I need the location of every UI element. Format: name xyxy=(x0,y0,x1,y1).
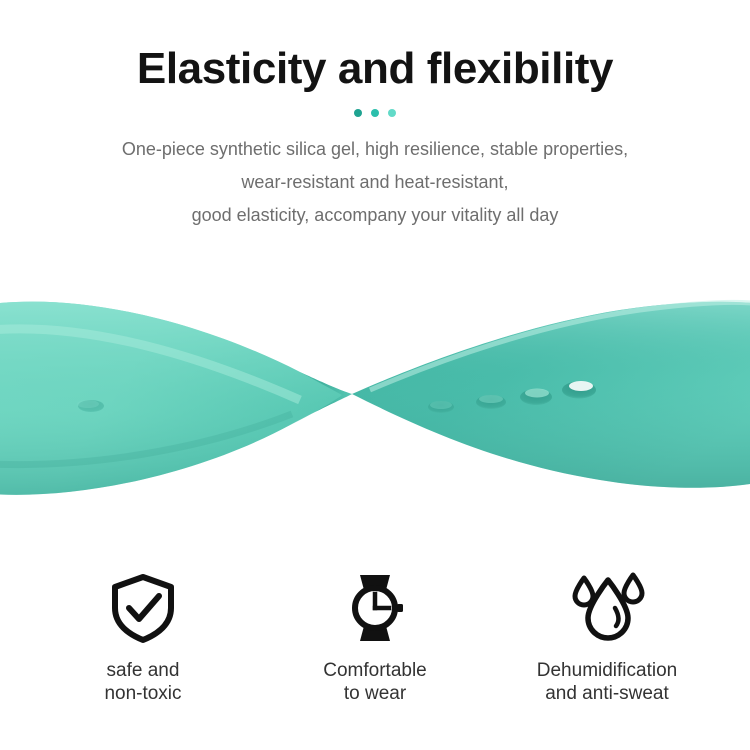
feature-1-line-2: non-toxic xyxy=(104,682,181,705)
hole-2-rim xyxy=(479,395,503,403)
accent-dot-1 xyxy=(354,109,362,117)
subtitle-line-1: One-piece synthetic silica gel, high res… xyxy=(25,133,725,166)
feature-label-3: Dehumidification and anti-sweat xyxy=(537,659,677,705)
feature-1-line-1: safe and xyxy=(104,659,181,682)
page-title: Elasticity and flexibility xyxy=(0,0,750,93)
feature-icon-wrap-1 xyxy=(107,578,179,644)
feature-dehumidification: Dehumidification and anti-sweat xyxy=(491,578,723,705)
water-drops-icon xyxy=(565,572,649,644)
feature-2-line-2: to wear xyxy=(323,682,427,705)
product-photo xyxy=(0,268,750,518)
shield-check-icon xyxy=(107,572,179,644)
header-block: Elasticity and flexibility One-piece syn… xyxy=(0,0,750,232)
feature-row: safe and non-toxic xyxy=(0,578,750,705)
feature-3-line-1: Dehumidification xyxy=(537,659,677,682)
feature-3-line-2: and anti-sweat xyxy=(537,682,677,705)
accent-dot-2 xyxy=(371,109,379,117)
wristwatch-icon xyxy=(339,572,411,644)
feature-icon-wrap-2 xyxy=(339,578,411,644)
subtitle-line-3: good elasticity, accompany your vitality… xyxy=(25,199,725,232)
subtitle-line-2: wear-resistant and heat-resistant, xyxy=(25,166,725,199)
feature-2-line-1: Comfortable xyxy=(323,659,427,682)
feature-label-1: safe and non-toxic xyxy=(104,659,181,705)
hole-4-aperture xyxy=(569,381,593,391)
hole-3-rim xyxy=(525,389,549,398)
hole-extra-rim xyxy=(77,400,99,408)
subtitle-block: One-piece synthetic silica gel, high res… xyxy=(25,133,725,232)
accent-dots xyxy=(343,107,407,119)
hole-1-rim xyxy=(430,401,452,409)
feature-comfortable-to-wear: Comfortable to wear xyxy=(259,578,491,705)
accent-dot-3 xyxy=(388,109,396,117)
silicone-band-illustration xyxy=(0,268,750,518)
feature-safe-non-toxic: safe and non-toxic xyxy=(27,578,259,705)
feature-icon-wrap-3 xyxy=(565,578,649,644)
feature-label-2: Comfortable to wear xyxy=(323,659,427,705)
promo-page: Elasticity and flexibility One-piece syn… xyxy=(0,0,750,750)
